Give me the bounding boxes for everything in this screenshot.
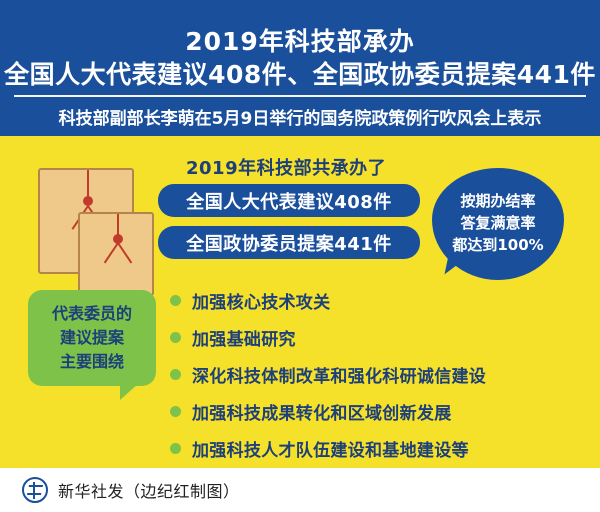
list-item-label: 加强基础研究 <box>192 325 296 350</box>
topics-list: 加强核心技术攻关 加强基础研究 深化科技体制改革和强化科研诚信建设 加强科技成果… <box>170 284 580 469</box>
header-subtitle: 科技部副部长李萌在5月9日举行的国务院政策例行吹风会上表示 <box>0 104 600 129</box>
completion-rate-callout: 按期办结率 答复满意率 都达到100% <box>432 168 564 280</box>
topics-callout-tail <box>120 384 138 400</box>
stat-pill-npc: 全国人大代表建议408件 <box>158 184 420 217</box>
list-item-label: 深化科技体制改革和强化科研诚信建设 <box>192 362 486 387</box>
topics-callout-line1: 代表委员的 <box>52 302 132 326</box>
poster-header: 2019年科技部承办 全国人大代表建议408件、全国政协委员提案441件 科技部… <box>0 0 600 136</box>
infographic-poster: 2019年科技部承办 全国人大代表建议408件、全国政协委员提案441件 科技部… <box>0 0 600 512</box>
envelope-front-icon <box>78 212 154 296</box>
footer-credit: 新华社发（边纪红制图） <box>58 478 240 502</box>
list-item: 加强科技成果转化和区域创新发展 <box>170 395 580 428</box>
completion-rate-line2: 答复满意率 <box>460 213 535 235</box>
bullet-dot-icon <box>170 295 181 306</box>
poster-footer: 新华社发（边纪红制图） <box>0 468 600 512</box>
bullet-dot-icon <box>170 332 181 343</box>
topics-callout-line2: 建议提案 <box>60 326 124 350</box>
stat-pill-cppcc: 全国政协委员提案441件 <box>158 226 420 259</box>
list-item: 加强基础研究 <box>170 321 580 354</box>
stat-pill-cppcc-label: 全国政协委员提案441件 <box>186 230 392 256</box>
completion-rate-line3: 都达到100% <box>452 235 543 257</box>
list-item-label: 加强科技成果转化和区域创新发展 <box>192 399 452 424</box>
bullet-dot-icon <box>170 406 181 417</box>
completion-rate-line1: 按期办结率 <box>460 191 535 213</box>
completion-rate-callout-tail <box>444 259 461 278</box>
topics-callout: 代表委员的 建议提案 主要围绕 <box>28 290 156 386</box>
poster-body: 2019年科技部共承办了 全国人大代表建议408件 全国政协委员提案441件 <box>0 136 600 468</box>
lead-text: 2019年科技部共承办了 <box>186 154 386 180</box>
topics-callout-line3: 主要围绕 <box>60 350 124 374</box>
header-title-line1: 2019年科技部承办 <box>0 22 600 58</box>
list-item: 加强核心技术攻关 <box>170 284 580 317</box>
bullet-dot-icon <box>170 369 181 380</box>
stat-pill-npc-label: 全国人大代表建议408件 <box>186 188 392 214</box>
xinhua-logo-icon <box>22 477 48 503</box>
envelope-front-detail <box>80 214 152 294</box>
header-divider <box>14 95 586 97</box>
list-item-label: 加强核心技术攻关 <box>192 288 330 313</box>
list-item: 加强科技人才队伍建设和基地建设等 <box>170 432 580 465</box>
header-title-line2: 全国人大代表建议408件、全国政协委员提案441件 <box>0 55 600 91</box>
bullet-dot-icon <box>170 443 181 454</box>
list-item-label: 加强科技人才队伍建设和基地建设等 <box>192 436 469 461</box>
list-item: 深化科技体制改革和强化科研诚信建设 <box>170 358 580 391</box>
